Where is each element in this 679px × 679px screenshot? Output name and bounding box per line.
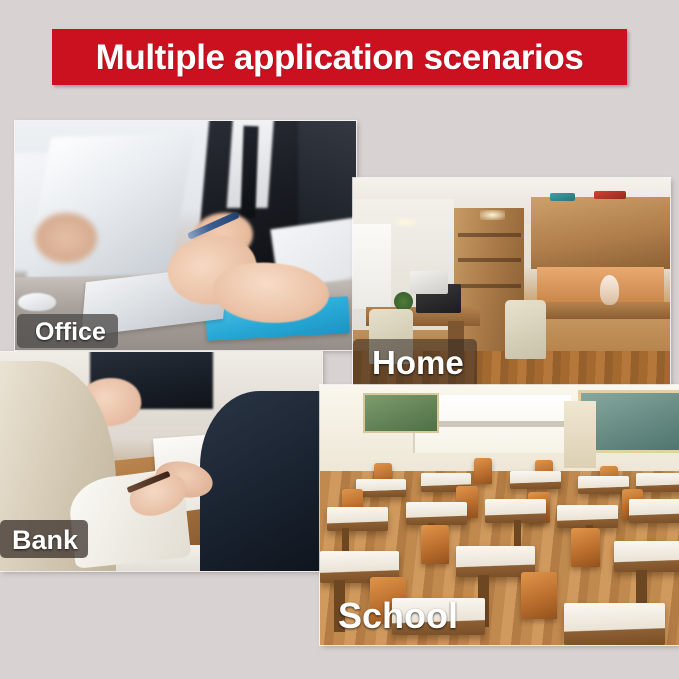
- title-banner: Multiple application scenarios: [52, 29, 627, 85]
- home-teal-box: [550, 193, 575, 201]
- school-wall-panel: [564, 401, 596, 469]
- office-background-hand: [35, 213, 96, 263]
- school-desk: [636, 473, 679, 491]
- scenario-label-bank: Bank: [12, 527, 78, 554]
- home-right-chair: [505, 300, 546, 359]
- school-desk: [406, 502, 467, 525]
- school-desk: [356, 479, 406, 497]
- scenario-card-office[interactable]: Office: [15, 121, 356, 350]
- school-chair: [571, 528, 600, 567]
- school-desk: [327, 507, 388, 530]
- home-window: [353, 224, 391, 308]
- school-chair: [521, 572, 557, 619]
- home-monitor: [410, 271, 448, 294]
- school-desk: [510, 471, 560, 489]
- office-mouse: [18, 293, 56, 311]
- scenario-card-school[interactable]: School: [320, 385, 679, 645]
- school-desk: [564, 603, 665, 645]
- home-glass-vase: [600, 275, 619, 305]
- school-desk: [629, 499, 679, 522]
- school-desk: [614, 541, 679, 572]
- scenario-card-bank[interactable]: Bank: [0, 352, 322, 571]
- home-red-box: [594, 191, 626, 199]
- page-title: Multiple application scenarios: [96, 40, 584, 75]
- home-shelf-2: [458, 258, 521, 262]
- scenario-label-office: Office: [35, 320, 106, 345]
- school-chair: [421, 525, 450, 564]
- home-ceiling-light-1: [394, 218, 416, 226]
- scenario-label-home: Home: [372, 346, 464, 379]
- school-chair: [474, 458, 492, 484]
- home-shelf-3: [458, 284, 521, 288]
- school-chalkboard-left: [363, 393, 439, 433]
- home-ceiling-light-2: [480, 210, 505, 221]
- home-upper-cabinets: [531, 197, 670, 269]
- office-necktie: [240, 125, 259, 217]
- scenario-label-school: School: [338, 598, 458, 634]
- home-shelf-1: [458, 233, 521, 237]
- scenario-card-home[interactable]: Home: [353, 178, 670, 389]
- application-scenarios-graphic: Multiple application scenarios Office: [0, 0, 679, 679]
